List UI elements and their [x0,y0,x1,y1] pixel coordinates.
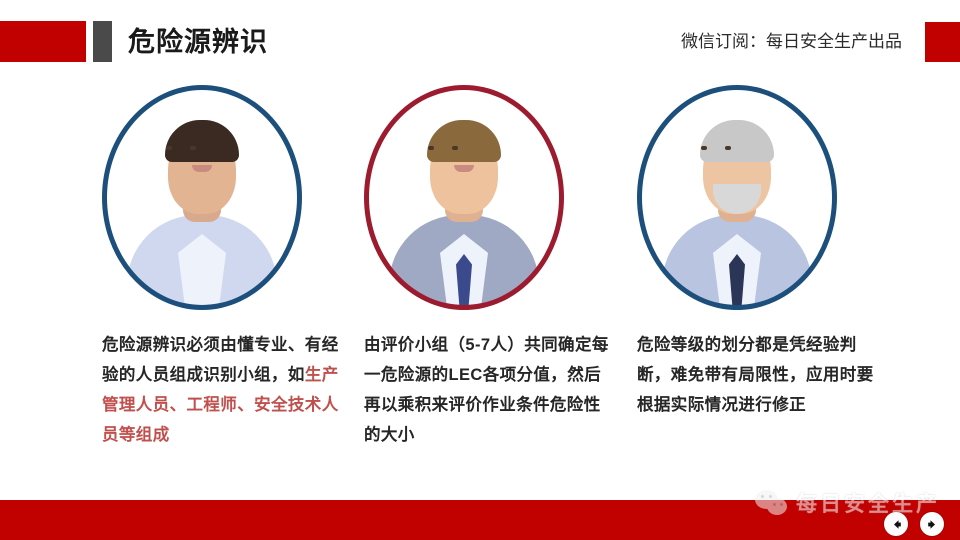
content-column-1: 危险源辨识必须由懂专业、有经验的人员组成识别小组，如生产管理人员、工程师、安全技… [90,85,370,310]
caption-3: 危险等级的划分都是凭经验判断，难免带有局限性，应用时要根据实际情况进行修正 [637,330,889,420]
hair [165,120,239,162]
person-illustration-2 [364,85,564,310]
person-illustration-1 [102,85,302,310]
portrait-image-1 [102,85,302,310]
arrow-right-icon [926,518,939,531]
slide: 危险源辨识 微信订阅：每日安全生产出品 [0,0,960,540]
caption-1-plain: 危险源辨识必须由懂专业、有经验的人员组成识别小组，如 [102,336,339,384]
hair [700,120,774,162]
caption-2-plain: 由评价小组（5-7人）共同确定每一危险源的LEC各项分值，然后再以乘积来评价作业… [364,336,609,444]
header-red-block-right [925,22,960,62]
portrait-2 [364,85,564,310]
slide-navigation [884,512,944,536]
eye-left [166,146,172,150]
hair [427,120,501,162]
portrait-3 [637,85,837,310]
header-red-block-left [0,21,86,62]
portrait-image-2 [364,85,564,310]
prev-slide-button[interactable] [884,512,908,536]
arrow-left-icon [890,518,903,531]
page-title: 危险源辨识 [128,22,268,62]
content-column-2: 由评价小组（5-7人）共同确定每一危险源的LEC各项分值，然后再以乘积来评价作业… [352,85,632,310]
header-gray-bar [93,21,112,62]
wechat-dot [769,495,772,498]
eye-right [190,146,196,150]
subscription-note: 微信订阅：每日安全生产出品 [681,30,902,54]
eye-left [428,146,434,150]
wechat-dot [761,495,764,498]
eye-left [701,146,707,150]
next-slide-button[interactable] [920,512,944,536]
portrait-1 [102,85,302,310]
content-column-3: 危险等级的划分都是凭经验判断，难免带有局限性，应用时要根据实际情况进行修正 [625,85,905,310]
caption-2: 由评价小组（5-7人）共同确定每一危险源的LEC各项分值，然后再以乘积来评价作业… [364,330,616,450]
portrait-image-3 [637,85,837,310]
caption-1: 危险源辨识必须由懂专业、有经验的人员组成识别小组，如生产管理人员、工程师、安全技… [102,330,354,450]
caption-3-plain: 危险等级的划分都是凭经验判断，难免带有局限性，应用时要根据实际情况进行修正 [637,336,874,414]
person-illustration-3 [637,85,837,310]
eye-right [452,146,458,150]
content-columns: 危险源辨识必须由懂专业、有经验的人员组成识别小组，如生产管理人员、工程师、安全技… [0,85,960,485]
eye-right [725,146,731,150]
footer-bar [0,500,960,540]
